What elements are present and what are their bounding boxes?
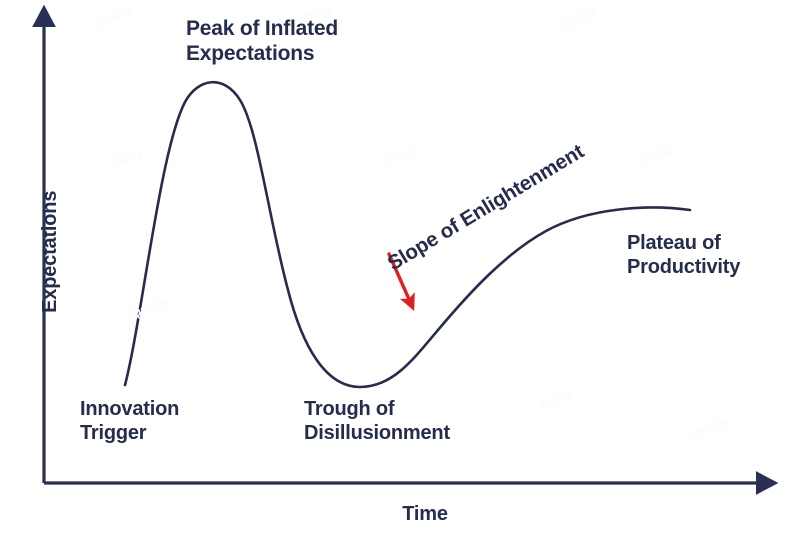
label-plateau-of-productivity: Plateau of Productivity bbox=[627, 232, 740, 279]
label-trough-of-disillusionment: Trough of Disillusionment bbox=[304, 398, 450, 445]
hype-cycle-curve bbox=[125, 82, 690, 387]
label-innovation-trigger: Innovation Trigger bbox=[80, 398, 179, 445]
x-axis-label: Time bbox=[0, 503, 800, 527]
y-axis-label: Expectations bbox=[39, 157, 63, 347]
hype-cycle-figure: Peak of Inflated Expectations Innovation… bbox=[0, 0, 800, 536]
label-peak-of-inflated-expectations: Peak of Inflated Expectations bbox=[186, 17, 338, 67]
